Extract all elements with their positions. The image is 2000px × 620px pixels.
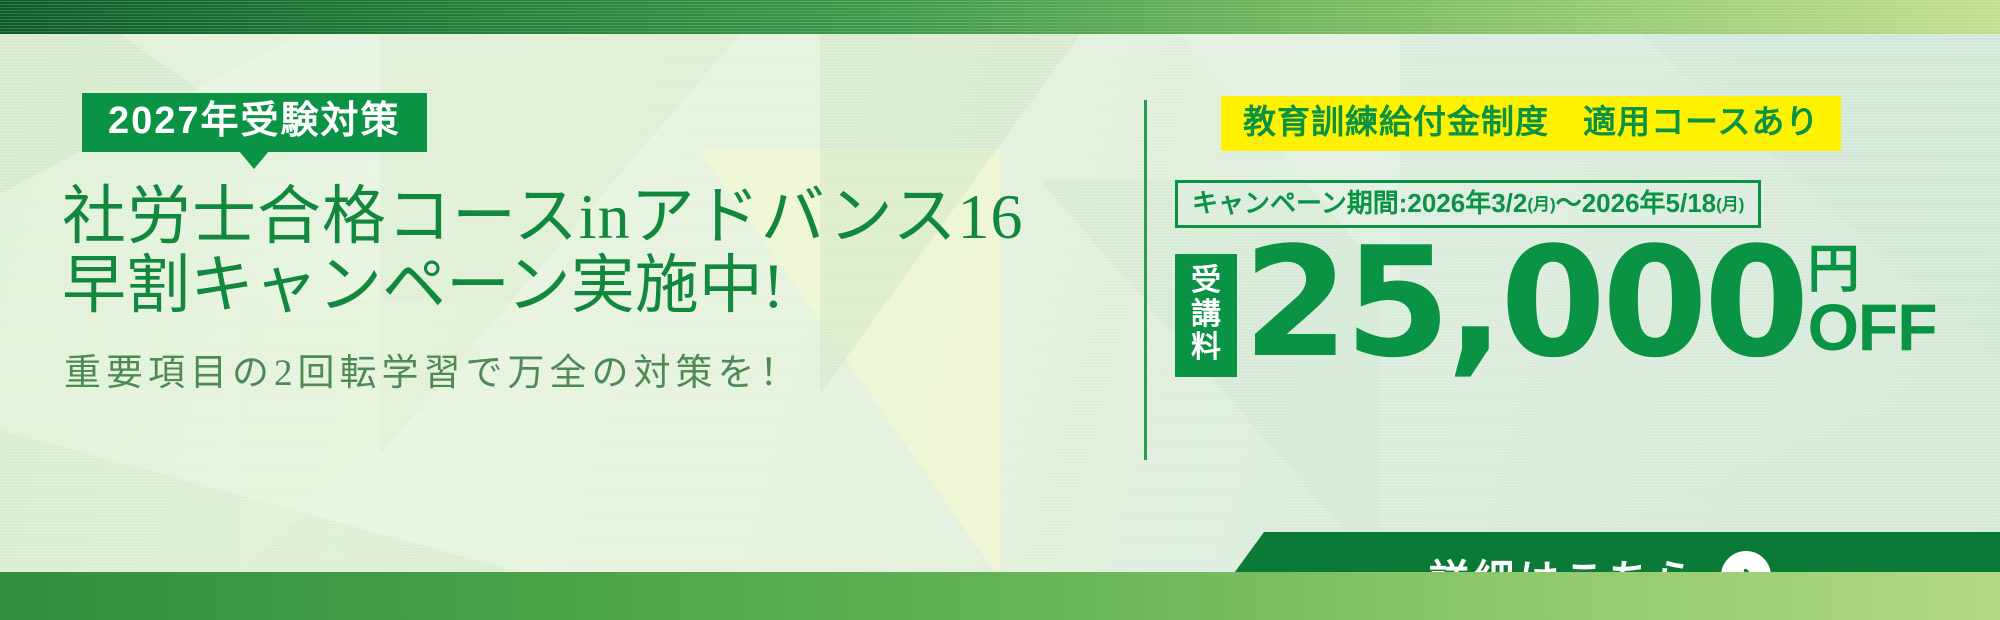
subsidy-badge: 教育訓練給付金制度 適用コースあり [1221,96,1841,151]
fee-label-char-3: 料 [1175,331,1237,365]
fee-label-tag: 受 講 料 [1175,254,1237,377]
page-title: 社労士合格コースinアドバンス16 早割キャンペーン実施中! [62,182,1102,320]
subtitle: 重要項目の2回転学習で万全の対策を！ [64,342,1104,396]
fee-label-char-1: 受 [1175,264,1237,298]
headline-line-2: 早割キャンペーン実施中! [62,251,1102,320]
discount-amount: 25,000 [1243,230,1806,376]
bottom-color-band [0,572,2000,620]
left-content-block: 2027年受験対策 社労士合格コースinアドバンス16 早割キャンペーン実施中!… [0,34,1145,572]
price-suffix-group: 円 OFF [1808,244,1937,357]
period-end-day: (月) [1716,195,1744,214]
year-badge: 2027年受験対策 [82,93,427,152]
right-content-block: 教育訓練給付金制度 適用コースあり キャンペーン期間:2026年3/2(月)〜2… [1145,34,2000,572]
price-block: 受 講 料 25,000 円 OFF [1175,230,1937,377]
headline-line-1: 社労士合格コースinアドバンス16 [62,182,1102,251]
fee-label-char-2: 講 [1175,298,1237,332]
period-start-day: (月) [1527,195,1555,214]
currency-symbol: 円 [1808,244,1860,296]
top-color-band [0,0,2000,34]
promo-banner: 2027年受験対策 社労士合格コースinアドバンス16 早割キャンペーン実施中!… [0,0,2000,620]
discount-label: OFF [1808,298,1937,357]
